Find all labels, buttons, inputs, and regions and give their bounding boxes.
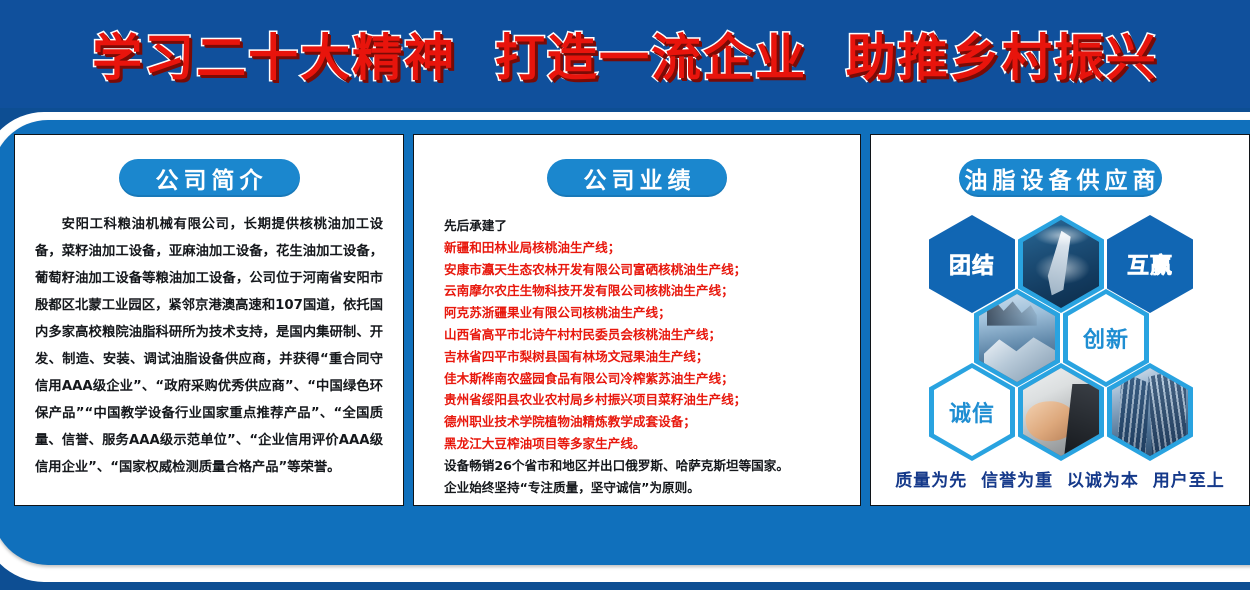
hex-inner (1023, 220, 1099, 308)
header-banner: 学习二十大精神 打造一流企业 助推乡村振兴 (0, 0, 1250, 108)
poster-board: 学习二十大精神 打造一流企业 助推乡村振兴 公司简介 安阳工科粮油机械有限公司，… (0, 0, 1250, 590)
panel-heading-company-intro: 公司简介 (119, 159, 300, 197)
hex-label: 团结 (949, 248, 995, 280)
performance-item: 佳木斯桦南农盛园食品有限公司冷榨紫苏油生产线； (444, 368, 860, 390)
hex-inner: 创新 (1068, 294, 1144, 382)
hex-inner (1112, 368, 1188, 456)
performance-footer-line: 企业始终坚持“专注质量，坚守诚信”为原则。 (444, 477, 860, 499)
panel-heading-label: 油脂设备供应商 (960, 161, 1161, 195)
hex-inner (1023, 368, 1099, 456)
panel-heading-label: 公司简介 (151, 161, 268, 195)
performance-item: 贵州省绥阳县农业农村局乡村振兴项目菜籽油生产线； (444, 389, 860, 411)
performance-item: 阿克苏浙疆果业有限公司核桃油生产线； (444, 302, 860, 324)
company-intro-text: 安阳工科粮油机械有限公司，长期提供核桃油加工设备，菜籽油加工设备，亚麻油加工设备… (35, 211, 383, 481)
performance-item: 新疆和田林业局核桃油生产线； (444, 237, 860, 259)
panels-container: 公司简介 安阳工科粮油机械有限公司，长期提供核桃油加工设备，菜籽油加工设备，亚麻… (14, 134, 1250, 506)
performance-item: 安康市瀛天生态农林开发有限公司富硒核桃油生产线； (444, 259, 860, 281)
hex-label: 互赢 (1127, 248, 1173, 280)
performance-item: 黑龙江大豆榨油项目等多家生产线。 (444, 433, 860, 455)
panel-supplier-values: 油脂设备供应商 团结 互赢 (870, 134, 1250, 506)
hex-inner (979, 294, 1055, 382)
panel-heading-supplier: 油脂设备供应商 (959, 159, 1162, 197)
panel-company-intro: 公司简介 安阳工科粮油机械有限公司，长期提供核桃油加工设备，菜籽油加工设备，亚麻… (14, 134, 404, 506)
handshake-icon (1023, 368, 1099, 456)
skyscraper-icon (1112, 368, 1188, 456)
hex-inner: 互赢 (1112, 220, 1188, 308)
performance-intro-line: 先后承建了 (444, 215, 860, 237)
supplier-slogan: 质量为先 信誉为重 以诚为本 用户至上 (871, 466, 1249, 491)
hex-inner: 团结 (934, 220, 1010, 308)
panel-company-performance: 公司业绩 先后承建了 新疆和田林业局核桃油生产线； 安康市瀛天生态农林开发有限公… (413, 134, 861, 506)
panel-heading-label: 公司业绩 (579, 161, 696, 195)
hex-inner: 诚信 (934, 368, 1010, 456)
aircraft-carrier-icon (1023, 220, 1099, 308)
performance-item: 山西省高平市北诗午村村民委员会核桃油生产线； (444, 324, 860, 346)
performance-item: 云南摩尔农庄生物科技开发有限公司核桃油生产线； (444, 280, 860, 302)
page-title: 学习二十大精神 打造一流企业 助推乡村振兴 (92, 18, 1158, 90)
performance-list: 先后承建了 新疆和田林业局核桃油生产线； 安康市瀛天生态农林开发有限公司富硒核桃… (444, 215, 860, 498)
hex-label: 创新 (1083, 322, 1129, 354)
performance-item: 吉林省四平市梨树县国有林场文冠果油生产线； (444, 346, 860, 368)
success-mountain-icon (979, 294, 1055, 382)
hexagon-cluster: 团结 互赢 (871, 203, 1250, 453)
performance-footer-line: 设备畅销26个省市和地区并出口俄罗斯、哈萨克斯坦等国家。 (444, 455, 860, 477)
hex-label: 诚信 (949, 396, 995, 428)
panel-heading-company-performance: 公司业绩 (547, 159, 727, 197)
performance-item: 德州职业技术学院植物油精炼教学成套设备； (444, 411, 860, 433)
